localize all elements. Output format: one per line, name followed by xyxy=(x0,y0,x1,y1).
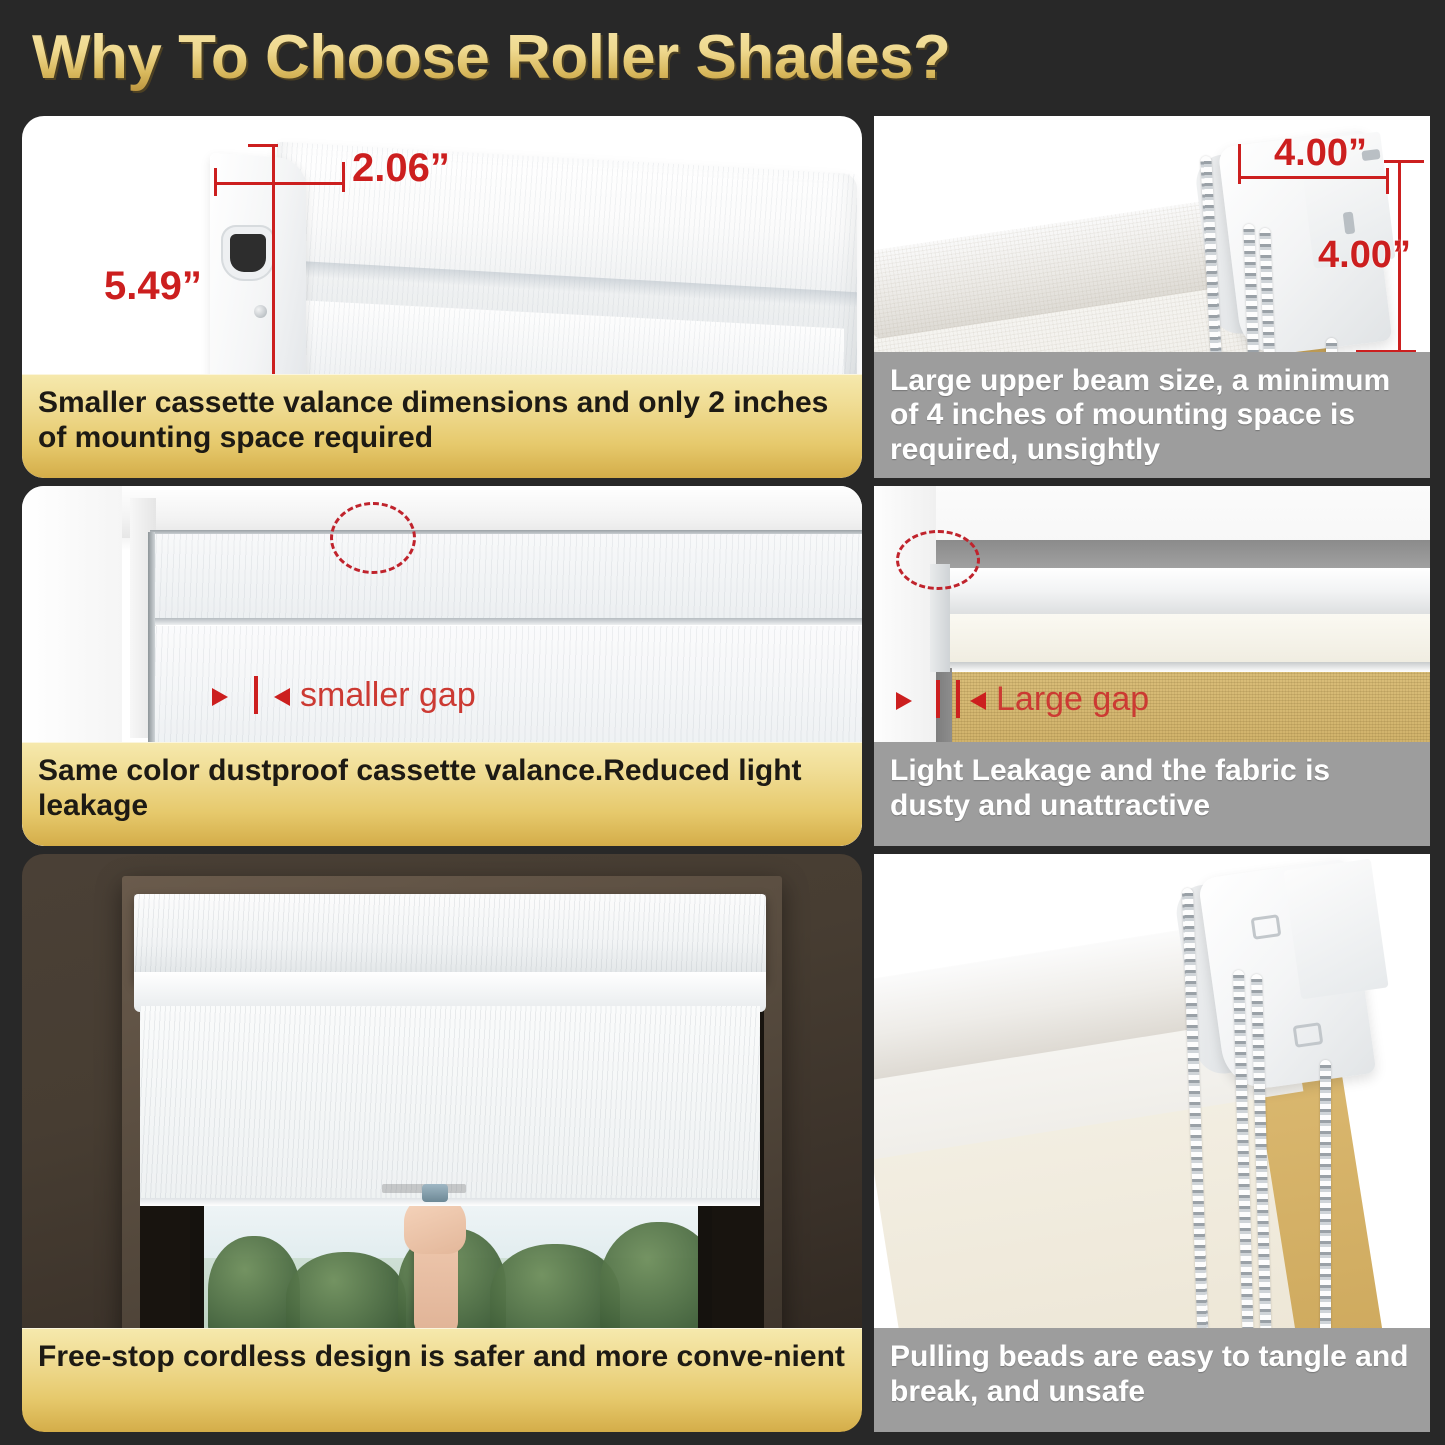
gap-arrow-left-icon xyxy=(274,688,290,706)
fabric-grain-texture xyxy=(134,894,766,982)
cassette-valance xyxy=(134,894,766,982)
screw-icon xyxy=(254,305,267,318)
beam-lip xyxy=(934,614,1430,666)
upper-beam xyxy=(934,568,1430,620)
bracket-emblem-icon xyxy=(1293,1022,1324,1048)
panel-pro-valance-dimensions: 2.06” 5.49” Smaller cassette valance dim… xyxy=(22,116,862,478)
caption-pro-row3: Free-stop cordless design is safer and m… xyxy=(22,1328,862,1432)
dimension-tick xyxy=(342,162,345,192)
panel-con-large-gap: Large gap Light Leakage and the fabric i… xyxy=(874,486,1430,846)
fabric-grain-texture xyxy=(140,1006,760,1206)
dimension-line-horizontal xyxy=(1238,176,1388,179)
dimension-label-width: 2.06” xyxy=(352,146,450,191)
valance-lower-seam xyxy=(150,618,862,625)
caption-con-row3: Pulling beads are easy to tangle and bre… xyxy=(874,1328,1430,1432)
window-mullion xyxy=(698,1206,712,1348)
fabric-grain-texture xyxy=(150,532,862,622)
gap-arrow-right-icon xyxy=(212,688,228,706)
shade-side-edge xyxy=(148,532,155,746)
caption-pro-row1: Smaller cassette valance dimensions and … xyxy=(22,374,862,478)
gap-marker xyxy=(956,680,960,718)
shade-hem-bar xyxy=(140,1198,760,1206)
gap-arrow-right-icon xyxy=(896,692,912,710)
dimension-tick xyxy=(214,168,217,196)
gap-label-smaller: smaller gap xyxy=(300,676,476,715)
dimension-label-height: 5.49” xyxy=(104,264,202,309)
dimension-tick xyxy=(1238,144,1241,184)
shade-fabric xyxy=(140,1006,760,1206)
dimension-label-height: 4.00” xyxy=(1318,234,1411,277)
gap-arrow-left-icon xyxy=(970,692,986,710)
bracket-emblem-icon xyxy=(1251,914,1282,940)
dimension-tick xyxy=(248,144,278,147)
header: Why To Choose Roller Shades? Why To Choo… xyxy=(0,0,1445,106)
bracket-plate xyxy=(1283,859,1388,1000)
beam-edge xyxy=(934,662,1430,672)
pull-tab xyxy=(422,1184,448,1202)
page-title: Why To Choose Roller Shades? xyxy=(32,22,950,93)
gap-label-large: Large gap xyxy=(996,680,1149,719)
panel-con-bead-chains: Pulling beads are easy to tangle and bre… xyxy=(874,854,1430,1432)
panel-pro-smaller-gap: smaller gap Same color dustproof cassett… xyxy=(22,486,862,846)
caption-pro-row2: Same color dustproof cassette valance.Re… xyxy=(22,742,862,846)
caption-con-row1: Large upper beam size, a minimum of 4 in… xyxy=(874,352,1430,478)
valance-slot xyxy=(230,234,266,272)
dimension-tick xyxy=(1384,160,1424,163)
caption-con-row2: Light Leakage and the fabric is dusty an… xyxy=(874,742,1430,846)
shade-valance xyxy=(150,532,862,622)
comparison-grid: 2.06” 5.49” Smaller cassette valance dim… xyxy=(0,106,1445,1445)
window-mullion xyxy=(190,1206,204,1348)
panel-pro-cordless-room: Free-stop cordless design is safer and m… xyxy=(22,854,862,1432)
highlight-circle-icon xyxy=(896,530,980,590)
highlight-circle-icon xyxy=(330,502,416,574)
dimension-label-width: 4.00” xyxy=(1274,132,1367,175)
dimension-tick xyxy=(1386,168,1389,194)
panel-con-large-beam: 4.00” 4.00” Large upper beam size, a min… xyxy=(874,116,1430,478)
dimension-line-horizontal xyxy=(214,182,344,185)
bead-chain xyxy=(1320,1060,1331,1354)
valance-seam xyxy=(150,530,862,534)
gap-marker xyxy=(254,676,258,714)
gap-marker xyxy=(936,680,940,718)
